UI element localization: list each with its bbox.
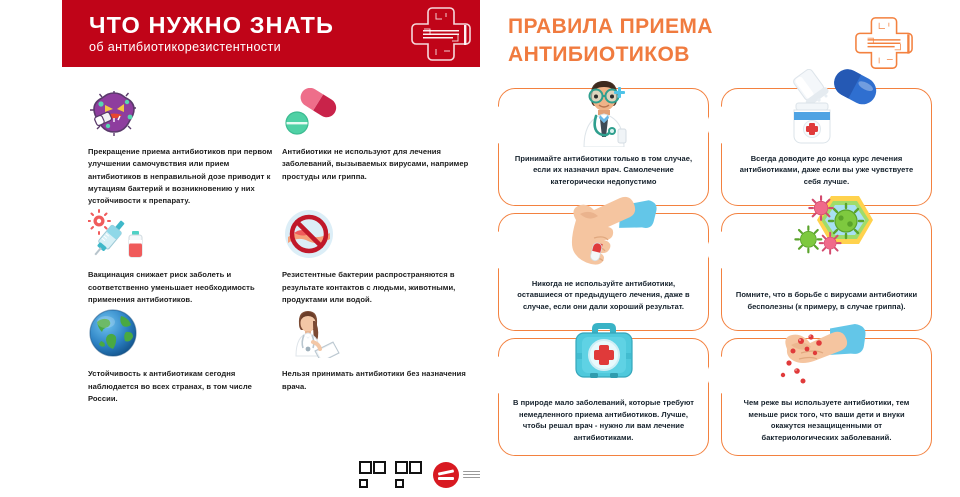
left-item-1-text: Прекращение приема антибиотиков при перв… <box>88 146 278 207</box>
left-items-grid: Прекращение приема антибиотиков при перв… <box>88 84 472 405</box>
rule-card-3-badge: #3 <box>486 233 520 267</box>
left-footer <box>358 460 495 489</box>
rospotrebnadzor-cross-logo-orange <box>854 13 914 75</box>
rule-card-3-text: Никогда не используйте антибиотики, оста… <box>510 278 697 322</box>
infographic-poster: ЧТО НУЖНО ЗНАТЬ об антибиотикорезистентн… <box>0 0 960 497</box>
rule-card-6-badge: #6 <box>709 358 743 392</box>
left-item-2-text: Антибиотики не используют для лечения за… <box>282 146 472 183</box>
rule-card-4-text: Помните, что в борьбе с вирусами антибио… <box>733 289 920 322</box>
rules-cards-grid: #1 <box>498 88 944 456</box>
left-item-3-text: Вакцинация снижает риск заболеть и соотв… <box>88 269 278 306</box>
pill-jar-capsule-icon <box>767 65 887 151</box>
rule-card-2-text: Всегда доводите до конца курс лечения ан… <box>733 153 920 197</box>
left-item-2: Антибиотики не используют для лечения за… <box>282 84 472 207</box>
left-item-4-text: Резистентные бактерии распространяются в… <box>282 269 472 306</box>
left-item-6: Нельзя принимать антибиотики без назначе… <box>282 306 472 405</box>
rule-card-6-text: Чем реже вы используете антибиотики, тем… <box>733 397 920 447</box>
right-title-line1: ПРАВИЛА ПРИЕМА <box>508 13 713 41</box>
rule-card-2[interactable]: #2 <box>721 88 932 206</box>
rule-card-2-badge: #2 <box>709 108 743 142</box>
left-item-6-text: Нельзя принимать антибиотики без назначе… <box>282 368 472 393</box>
left-panel: ЧТО НУЖНО ЗНАТЬ об антибиотикорезистентн… <box>0 0 480 497</box>
left-item-5-text: Устойчивость к антибиотикам сегодня набл… <box>88 368 278 405</box>
rule-card-6[interactable]: #6 <box>721 338 932 456</box>
no-handshake-prohibited-icon <box>282 207 472 259</box>
left-item-1: Прекращение приема антибиотиков при перв… <box>88 84 278 207</box>
left-item-3: Вакцинация снижает риск заболеть и соотв… <box>88 207 278 306</box>
left-banner-texts: ЧТО НУЖНО ЗНАТЬ об антибиотикорезистентн… <box>89 13 410 55</box>
vaccine-syringe-icon <box>88 207 278 259</box>
left-item-5: Устойчивость к антибиотикам сегодня набл… <box>88 306 278 405</box>
rule-card-4[interactable]: #4 <box>721 213 932 331</box>
rule-card-3[interactable]: #3 Никогда не используйте ант <box>498 213 709 331</box>
doctor-stethoscope-icon <box>544 65 664 151</box>
rule-card-1[interactable]: #1 <box>498 88 709 206</box>
left-banner: ЧТО НУЖНО ЗНАТЬ об антибиотикорезистентн… <box>62 0 480 67</box>
rule-card-4-badge: #4 <box>709 233 743 267</box>
qr-code[interactable] <box>394 460 423 489</box>
qr-code[interactable] <box>358 460 387 489</box>
right-header: ПРАВИЛА ПРИЕМА АНТИБИОТИКОВ <box>508 13 938 75</box>
rospotrebnadzor-emblem-icon <box>433 462 459 488</box>
right-title-block: ПРАВИЛА ПРИЕМА АНТИБИОТИКОВ <box>508 13 713 70</box>
rule-card-5-text: В природе мало заболеваний, которые треб… <box>510 397 697 447</box>
rule-card-1-text: Принимайте антибиотики только в том случ… <box>510 153 697 197</box>
right-title-line2: АНТИБИОТИКОВ <box>508 41 713 69</box>
left-banner-title: ЧТО НУЖНО ЗНАТЬ <box>89 13 410 38</box>
bacteria-purple-icon <box>88 84 278 136</box>
rule-card-5-badge: #5 <box>486 358 520 392</box>
left-banner-subtitle: об антибиотикорезистентности <box>89 40 410 54</box>
female-doctor-laptop-icon <box>282 306 472 358</box>
pills-capsule-icon <box>282 84 472 136</box>
right-panel: ПРАВИЛА ПРИЕМА АНТИБИОТИКОВ <box>480 0 960 497</box>
left-item-4: Резистентные бактерии распространяются в… <box>282 207 472 306</box>
rule-card-1-badge: #1 <box>486 108 520 142</box>
globe-earth-icon <box>88 306 278 358</box>
rospotrebnadzor-cross-logo <box>410 5 472 63</box>
rule-card-5[interactable]: #5 <box>498 338 709 456</box>
